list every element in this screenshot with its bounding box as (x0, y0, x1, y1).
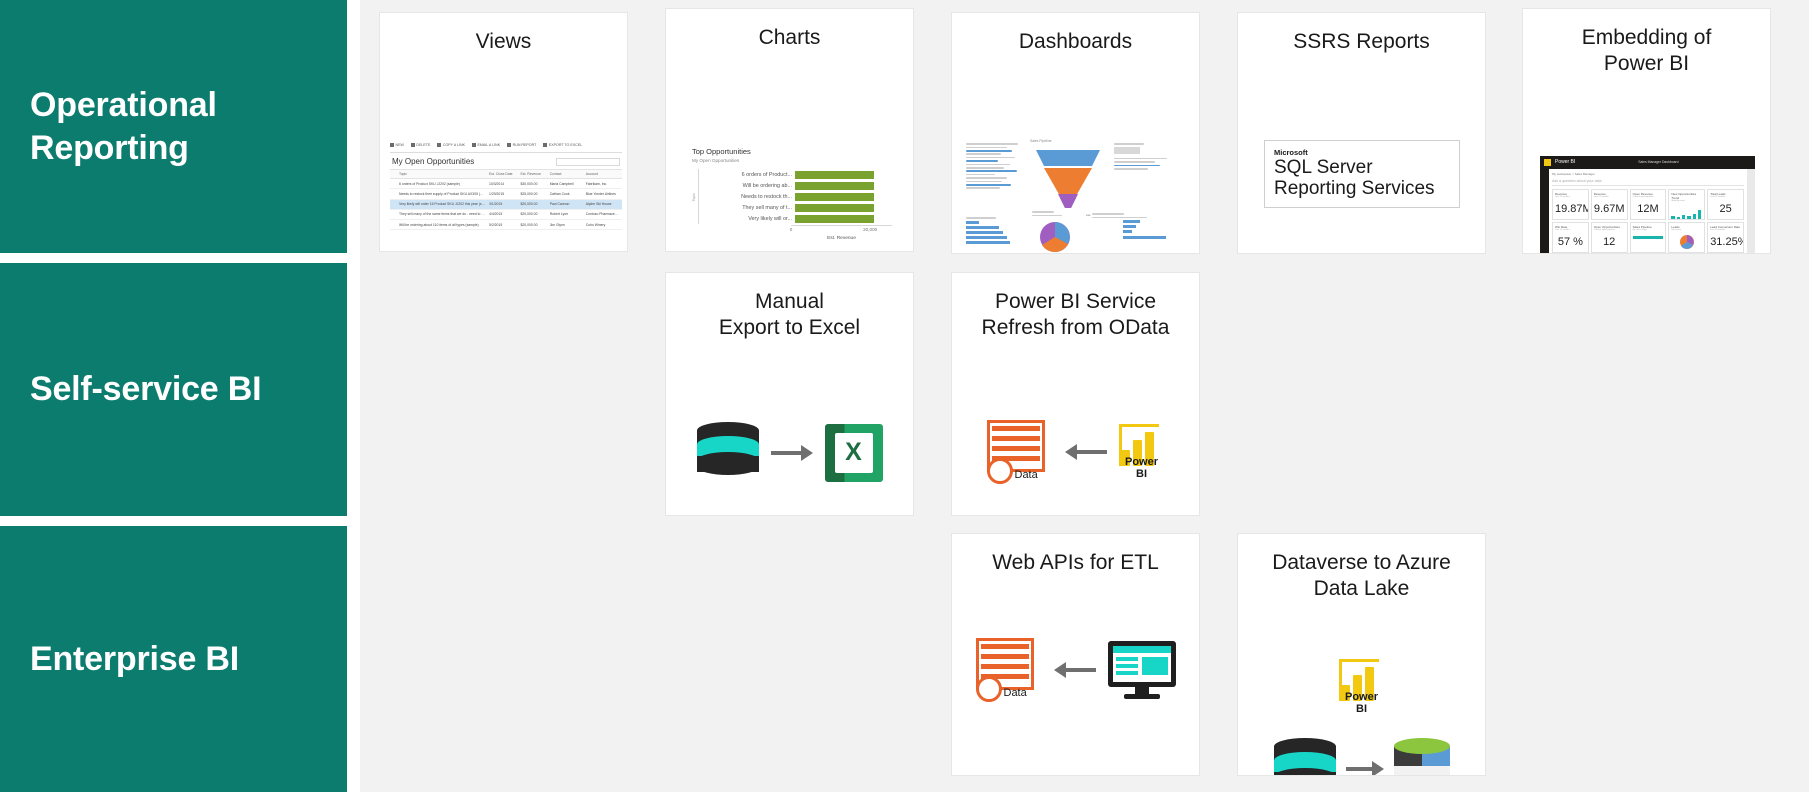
cell-account: Contoso Pharmaceuticals (584, 209, 622, 219)
card-title: Dataverse to Azure Data Lake (1238, 534, 1485, 603)
mini-pie-svg (1676, 233, 1698, 250)
col-close-date: Est. Close Date (487, 170, 518, 179)
chart-category-label: Will be ordering ab... (699, 183, 795, 189)
powerbi-kpi-row-2: Win Rate Last 12 months 57 % Open Opport… (1552, 222, 1744, 253)
powerbi-kpi-row-1: Revenue Last 12 months 19.87M Revenue La… (1552, 189, 1744, 220)
powerbi-topbar: Power BI Sales Manager Dashboard (1540, 156, 1755, 169)
excel-flow: X (666, 422, 913, 484)
ssrs-line2: Reporting Services (1274, 178, 1459, 199)
plus-icon (390, 143, 394, 147)
chart-bar (795, 182, 874, 190)
azure-data-lake-icon (1394, 738, 1450, 777)
mini-funnel (1633, 236, 1664, 239)
arrow-left-icon (1065, 444, 1107, 460)
col-account: Account (584, 170, 622, 179)
kpi-value: 9.67M (1594, 203, 1625, 215)
cell-account: Coho Winery (584, 220, 622, 230)
powerbi-logo-icon: Power BI (1119, 424, 1165, 480)
cell-contact: Jim Glynn (548, 220, 584, 230)
toolbar-email-link: EMAIL A LINK (472, 143, 500, 147)
chart-axis-row: 020,000 (692, 225, 892, 235)
chart-xlabel: Est. Revenue (791, 236, 892, 241)
cell-account: Alpine Ski House (584, 199, 622, 209)
link-icon (437, 143, 441, 147)
kpi-subtitle: Last 12 months (1555, 229, 1586, 231)
crm-table: Topic Est. Close Date Est. Revenue Conta… (390, 169, 622, 230)
webapi-flow: Data (952, 638, 1199, 702)
odata-flow: Data Power BI (952, 420, 1199, 484)
powerbi-label: Power BI (1339, 691, 1385, 715)
diagram-canvas: Operational Reporting Self-service BI En… (0, 0, 1809, 792)
table-row[interactable]: 6 orders of Product SKU JJ202 (sample) 1… (390, 179, 622, 189)
kpi-value: 57 % (1555, 236, 1586, 248)
card-title: SSRS Reports (1238, 13, 1485, 55)
card-manual-export-to-excel[interactable]: Manual Export to Excel (665, 272, 914, 516)
cell-close: 3/1/2015 (487, 199, 518, 209)
ssrs-line1: SQL Server (1274, 157, 1459, 178)
cell-close: 10/3/2014 (487, 179, 518, 189)
kpi-tile[interactable]: Win Rate Last 12 months 57 % (1552, 222, 1589, 253)
dash-text-panel (966, 143, 1024, 190)
col-check (390, 170, 397, 179)
kpi-subtitle: By sales stage (1633, 229, 1664, 231)
powerbi-embed-thumbnail: Power BI Sales Manager Dashboard My work… (1540, 156, 1755, 255)
cell-contact: Maria Campbell (548, 179, 584, 189)
chart-bar (795, 171, 874, 179)
category-label: Operational Reporting (0, 84, 347, 169)
chart-category-label: They sell many of t... (699, 205, 795, 211)
dash-bars-right (1092, 213, 1184, 241)
chart-bar (795, 193, 874, 201)
col-revenue: Est. Revenue (518, 170, 547, 179)
chart-title: Top Opportunities (692, 147, 892, 156)
card-title: Dashboards (952, 13, 1199, 55)
kpi-tile[interactable]: Lead Conversion Rate Last 12 months 31.2… (1707, 222, 1744, 253)
table-row-selected[interactable]: Very likely will order 15 Product SKU JJ… (390, 199, 622, 209)
kpi-subtitle: Monthly trend (1671, 200, 1702, 202)
cell-topic: Will be ordering about 110 items of all … (397, 220, 487, 230)
kpi-title: Lead Conversion Rate (1710, 225, 1741, 229)
chart-bars: 6 orders of Product... Will be ordering … (698, 169, 892, 224)
dataverse-data-icon: Data (976, 638, 1042, 702)
ssrs-superscript: Microsoft (1274, 149, 1459, 157)
card-title: Embedding of Power BI (1523, 9, 1770, 78)
row-check[interactable] (390, 209, 397, 219)
toolbar-export-excel: EXPORT TO EXCEL (543, 143, 582, 147)
bar-chart-thumbnail: Top Opportunities My Open Opportunities … (692, 147, 892, 241)
ssrs-logo: Microsoft SQL Server Reporting Services (1264, 140, 1460, 208)
category-label: Self-service BI (0, 368, 261, 411)
kpi-subtitle: Last 12 months (1594, 196, 1625, 198)
kpi-subtitle: Current open pipeline (1633, 196, 1664, 198)
table-header-row: Topic Est. Close Date Est. Revenue Conta… (390, 170, 622, 179)
powerbi-header-title: Sales Manager Dashboard (1638, 160, 1678, 164)
report-icon (507, 143, 511, 147)
pie-tile[interactable]: Leads By source (1668, 222, 1705, 253)
kpi-title: New Opportunities Trend (1671, 192, 1702, 200)
kpi-tile[interactable]: Revenue Last 12 months 9.67M (1591, 189, 1628, 220)
powerbi-left-rail (1540, 169, 1549, 255)
cell-close: 1/29/2015 (487, 189, 518, 199)
excel-icon: X (825, 424, 883, 482)
chart-bar-row: Will be ordering ab... (699, 180, 892, 191)
row-check[interactable] (390, 220, 397, 230)
kpi-subtitle: Current open pipeline (1594, 229, 1625, 231)
cell-revenue: $20,000.00 (518, 199, 547, 209)
mail-icon (472, 143, 476, 147)
chart-category-label: Needs to restock th... (699, 194, 795, 200)
cell-close: 5/2/2015 (487, 220, 518, 230)
application-monitor-icon (1108, 641, 1176, 699)
divider (390, 152, 622, 153)
cell-contact: Cathan Cook (548, 189, 584, 199)
dashboard-thumbnail: Sales Pipeline Qualify Develop Propose (966, 139, 1188, 249)
card-web-apis-etl[interactable]: Web APIs for ETL Data (951, 533, 1200, 776)
chart-category-label: Very likely will or... (699, 216, 795, 222)
cell-revenue: $25,000.00 (518, 189, 547, 199)
pie-svg (1032, 220, 1078, 254)
table-row[interactable]: Will be ordering about 110 items of all … (390, 220, 622, 230)
arrow-right-icon (771, 445, 813, 461)
kpi-subtitle: Last 12 months (1555, 196, 1586, 198)
dataverse-data-icon: Data (987, 420, 1053, 484)
kpi-value: 12M (1633, 203, 1664, 215)
cell-account: Fabrikam, Inc. (584, 179, 622, 189)
card-embedding-power-bi[interactable]: Embedding of Power BI Power BI Sales Man… (1522, 8, 1771, 254)
chart-bar-row: 6 orders of Product... (699, 169, 892, 180)
chart-category-label: 6 orders of Product... (699, 172, 795, 178)
card-ssrs-reports[interactable]: SSRS Reports Microsoft SQL Server Report… (1237, 12, 1486, 254)
table-row[interactable]: Needs to restock their supply of Product… (390, 189, 622, 199)
category-enterprise-bi: Enterprise BI (0, 526, 347, 792)
card-title: Views (380, 13, 627, 55)
datalake-powerbi: Power BI (1238, 659, 1485, 715)
funnel-svg (1030, 144, 1106, 208)
category-column: Operational Reporting Self-service BI En… (0, 0, 347, 792)
crm-grid-thumbnail: NEW DELETE COPY A LINK EMAIL A LINK RUN … (390, 143, 622, 230)
dash-text-panel-right (1114, 143, 1180, 171)
cell-contact: Paul Cannon (548, 199, 584, 209)
card-title: Power BI Service Refresh from OData (952, 273, 1199, 342)
cell-topic: Very likely will order 15 Product SKU JJ… (397, 199, 487, 209)
data-label: Data (1004, 687, 1027, 699)
category-self-service-bi: Self-service BI (0, 263, 347, 516)
arrow-left-icon (1054, 662, 1096, 678)
chart-xtick: 0 (790, 227, 793, 232)
funnel-chart: Sales Pipeline Qualify Develop Propose (1030, 139, 1106, 217)
card-title: Charts (666, 9, 913, 51)
category-operational-reporting: Operational Reporting (0, 0, 347, 253)
trend-tile[interactable]: New Opportunities Trend Monthly trend (1668, 189, 1705, 220)
cell-revenue: $30,000.00 (518, 179, 547, 189)
cell-account: Blue Yonder Airlines (584, 189, 622, 199)
crm-toolbar: NEW DELETE COPY A LINK EMAIL A LINK RUN … (390, 143, 622, 150)
card-charts[interactable]: Charts Top Opportunities My Open Opportu… (665, 8, 914, 252)
cell-revenue: $20,000.00 (518, 220, 547, 230)
row-check[interactable] (390, 179, 397, 189)
powerbi-canvas: My workspace > Sales Manager Ask a quest… (1549, 169, 1747, 255)
card-grid: Views NEW DELETE COPY A LINK EMAIL A LIN… (360, 0, 1809, 792)
chart-plot: Topic 6 orders of Product... Will be ord… (692, 169, 892, 224)
chart-bar-row: Needs to restock th... (699, 191, 892, 202)
kpi-subtitle: By source (1671, 229, 1702, 231)
chart-bar (795, 204, 874, 212)
excel-letter: X (835, 433, 873, 473)
kpi-tile[interactable]: Revenue Last 12 months 19.87M (1552, 189, 1589, 220)
chart-xtick: 20,000 (863, 227, 877, 232)
cell-topic: 6 orders of Product SKU JJ202 (sample) (397, 179, 487, 189)
chart-bar-row: They sell many of t... (699, 202, 892, 213)
cell-close: 4/4/2015 (487, 209, 518, 219)
crm-view-name: My Open Opportunities (392, 157, 474, 166)
cell-topic: They sell many of the same items that we… (397, 209, 487, 219)
card-title: Manual Export to Excel (666, 273, 913, 342)
toolbar-run-report: RUN REPORT (507, 143, 536, 147)
cell-topic: Needs to restock their supply of Product… (397, 189, 487, 199)
data-label: Data (1015, 469, 1038, 481)
col-topic: Topic (397, 170, 487, 179)
kpi-tile[interactable]: Open Revenue Current open pipeline 12M (1630, 189, 1667, 220)
powerbi-logo-icon (1544, 159, 1551, 166)
funnel-tile[interactable]: Sales Pipeline By sales stage (1630, 222, 1667, 253)
datalake-flow (1238, 738, 1485, 777)
category-label: Enterprise BI (0, 638, 239, 681)
toolbar-delete: DELETE (411, 143, 430, 147)
kpi-title: Open Opportunities (1594, 225, 1625, 229)
card-powerbi-odata-refresh[interactable]: Power BI Service Refresh from OData Data (951, 272, 1200, 516)
chart-bar (795, 215, 874, 223)
card-title: Web APIs for ETL (952, 534, 1199, 576)
kpi-value: 25 (1710, 203, 1741, 215)
cell-contact: Robert Lyon (548, 209, 584, 219)
row-check[interactable] (390, 189, 397, 199)
powerbi-qna-input[interactable]: Ask a question about your data (1552, 179, 1744, 186)
chart-ylabel: Topic (692, 193, 696, 201)
kpi-value: 31.25% (1710, 236, 1741, 248)
dataverse-database-icon (697, 422, 759, 484)
excel-icon (543, 143, 547, 147)
row-check[interactable] (390, 199, 397, 209)
arrow-right-icon (1346, 761, 1384, 777)
trash-icon (411, 143, 415, 147)
cell-revenue: $20,000.00 (518, 209, 547, 219)
toolbar-new: NEW (390, 143, 404, 147)
toolbar-copy-link: COPY A LINK (437, 143, 465, 147)
chart-subtitle: My Open Opportunities (692, 158, 892, 163)
kpi-subtitle: Last 12 months (1710, 196, 1741, 198)
crm-search-input[interactable] (556, 158, 620, 166)
table-row[interactable]: They sell many of the same items that we… (390, 209, 622, 219)
col-contact: Contact (548, 170, 584, 179)
powerbi-brand: Power BI (1555, 159, 1575, 165)
kpi-value: 19.87M (1555, 203, 1586, 215)
kpi-subtitle: Last 12 months (1710, 229, 1741, 231)
chart-xaxis: 020,000 (791, 225, 892, 235)
card-dashboards[interactable]: Dashboards Sales Pipeline (951, 12, 1200, 254)
kpi-tile[interactable]: Open Opportunities Current open pipeline… (1591, 222, 1628, 253)
powerbi-label: Power BI (1119, 456, 1165, 480)
card-views[interactable]: Views NEW DELETE COPY A LINK EMAIL A LIN… (379, 12, 628, 252)
crm-view-header: My Open Opportunities (390, 157, 622, 169)
dataverse-database-icon (1274, 738, 1336, 777)
chart-bar-row: Very likely will or... (699, 213, 892, 224)
card-dataverse-azure-data-lake[interactable]: Dataverse to Azure Data Lake Power BI (1237, 533, 1486, 776)
mini-bar-chart (1671, 206, 1702, 220)
kpi-value: 12 (1594, 236, 1625, 248)
pie-chart (1032, 211, 1086, 254)
powerbi-breadcrumb: My workspace > Sales Manager (1552, 172, 1744, 176)
kpi-tile[interactable]: Total Leads Last 12 months 25 (1707, 189, 1744, 220)
powerbi-logo-icon: Power BI (1339, 659, 1385, 715)
dash-bars-left (966, 217, 1026, 246)
